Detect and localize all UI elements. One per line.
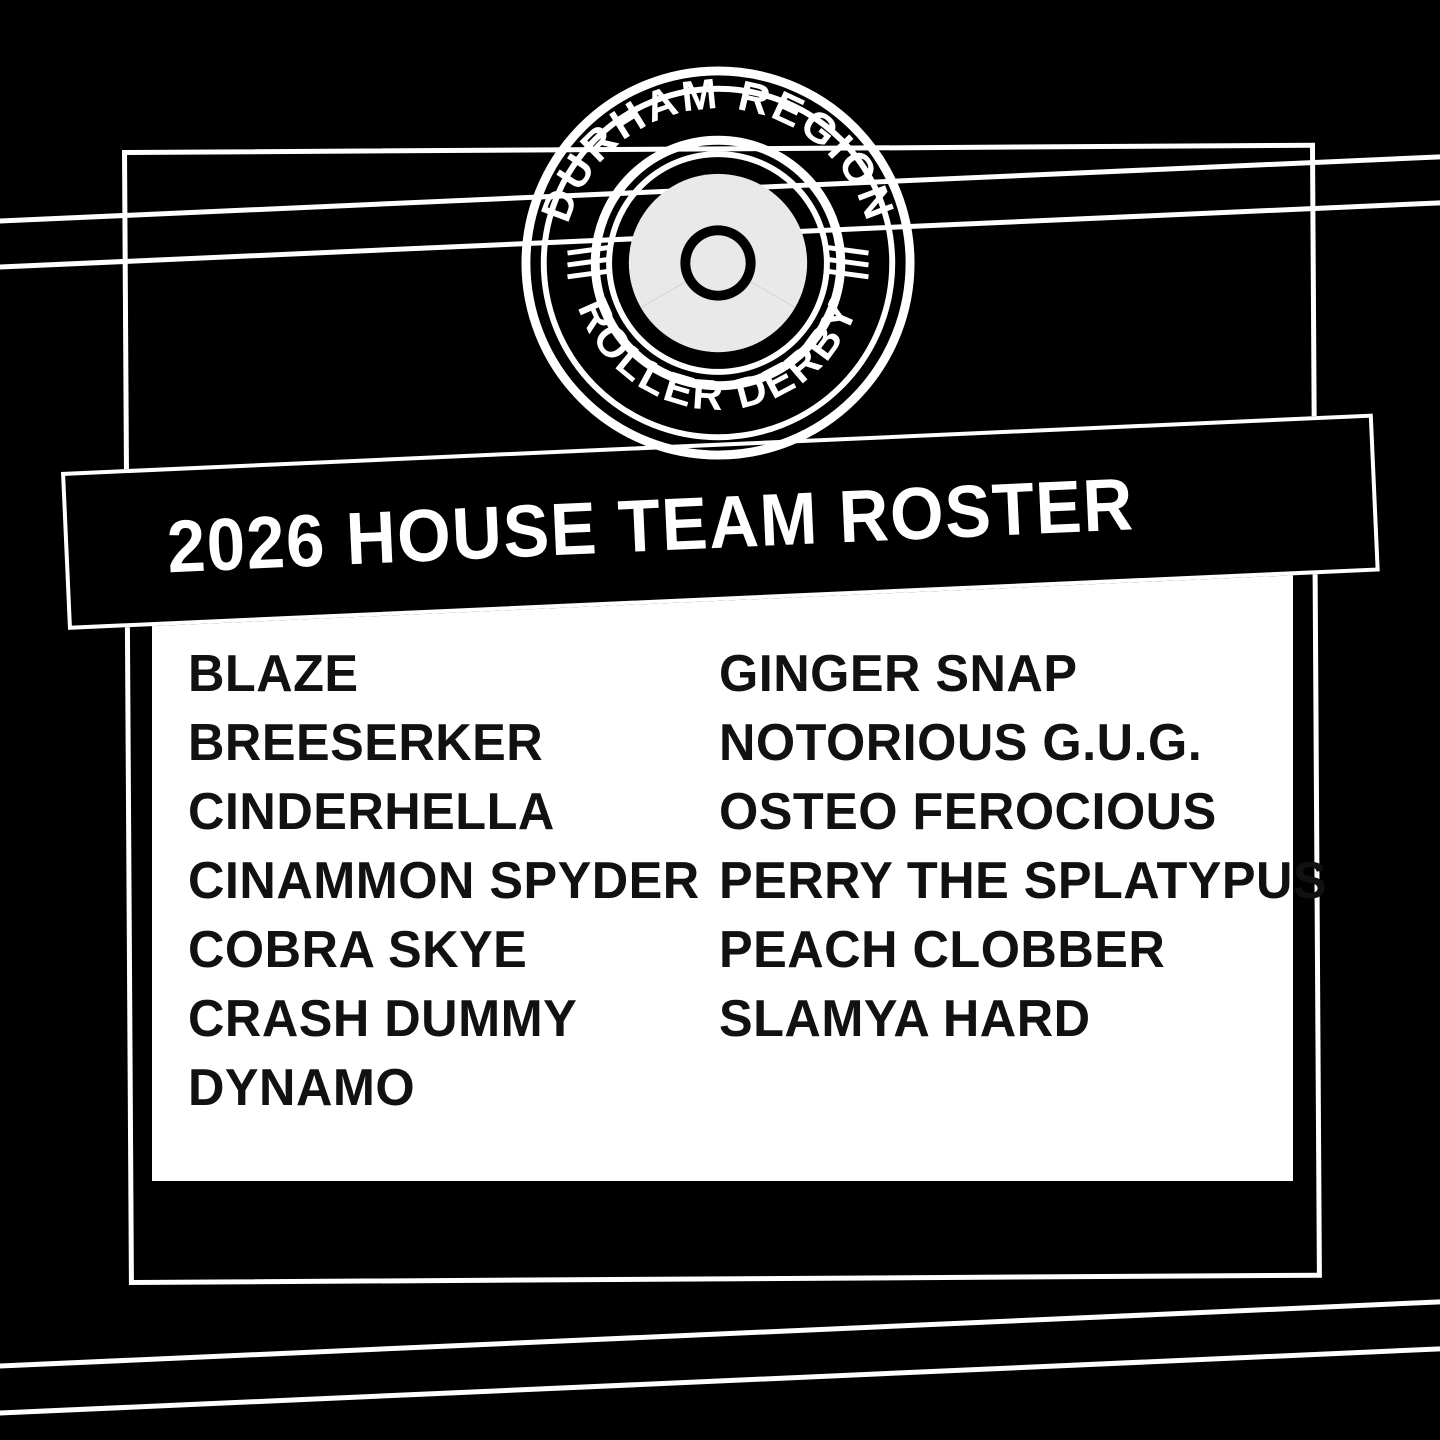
roster-name: BREESERKER [188,709,700,778]
roster-name: OSTEO FEROCIOUS [719,778,1327,847]
roster-name: DYNAMO [188,1054,700,1123]
badge-dash-marks-left [568,247,612,277]
trefoil-center-dot [690,235,745,290]
roster-name: COBRA SKYE [188,916,700,985]
decorative-rule-bottom-outer [0,1340,1440,1421]
roster-name: NOTORIOUS G.U.G. [719,709,1327,778]
badge-dash-marks-right [825,247,869,277]
page-title: 2026 HOUSE TEAM ROSTER [165,455,1275,589]
roster-name: GINGER SNAP [719,640,1327,709]
roster-column-right: GINGER SNAP NOTORIOUS G.U.G. OSTEO FEROC… [719,640,1346,1054]
decorative-rule-bottom-inner [0,1293,1440,1374]
roster-name: CRASH DUMMY [188,985,700,1054]
league-logo: DURHAM REGION ROLLER DERBY [520,65,916,461]
roster-name: CINDERHELLA [188,778,700,847]
roster-name: SLAMYA HARD [719,985,1327,1054]
roster-name: CINAMMON SPYDER [188,847,700,916]
roster-poster: BLAZE BREESERKER CINDERHELLA CINAMMON SP… [0,0,1440,1440]
roster-name: PEACH CLOBBER [719,916,1327,985]
roster-name: PERRY THE SPLATYPUS [719,847,1327,916]
roster-name: BLAZE [188,640,700,709]
roster-column-left: BLAZE BREESERKER CINDERHELLA CINAMMON SP… [188,640,716,1123]
